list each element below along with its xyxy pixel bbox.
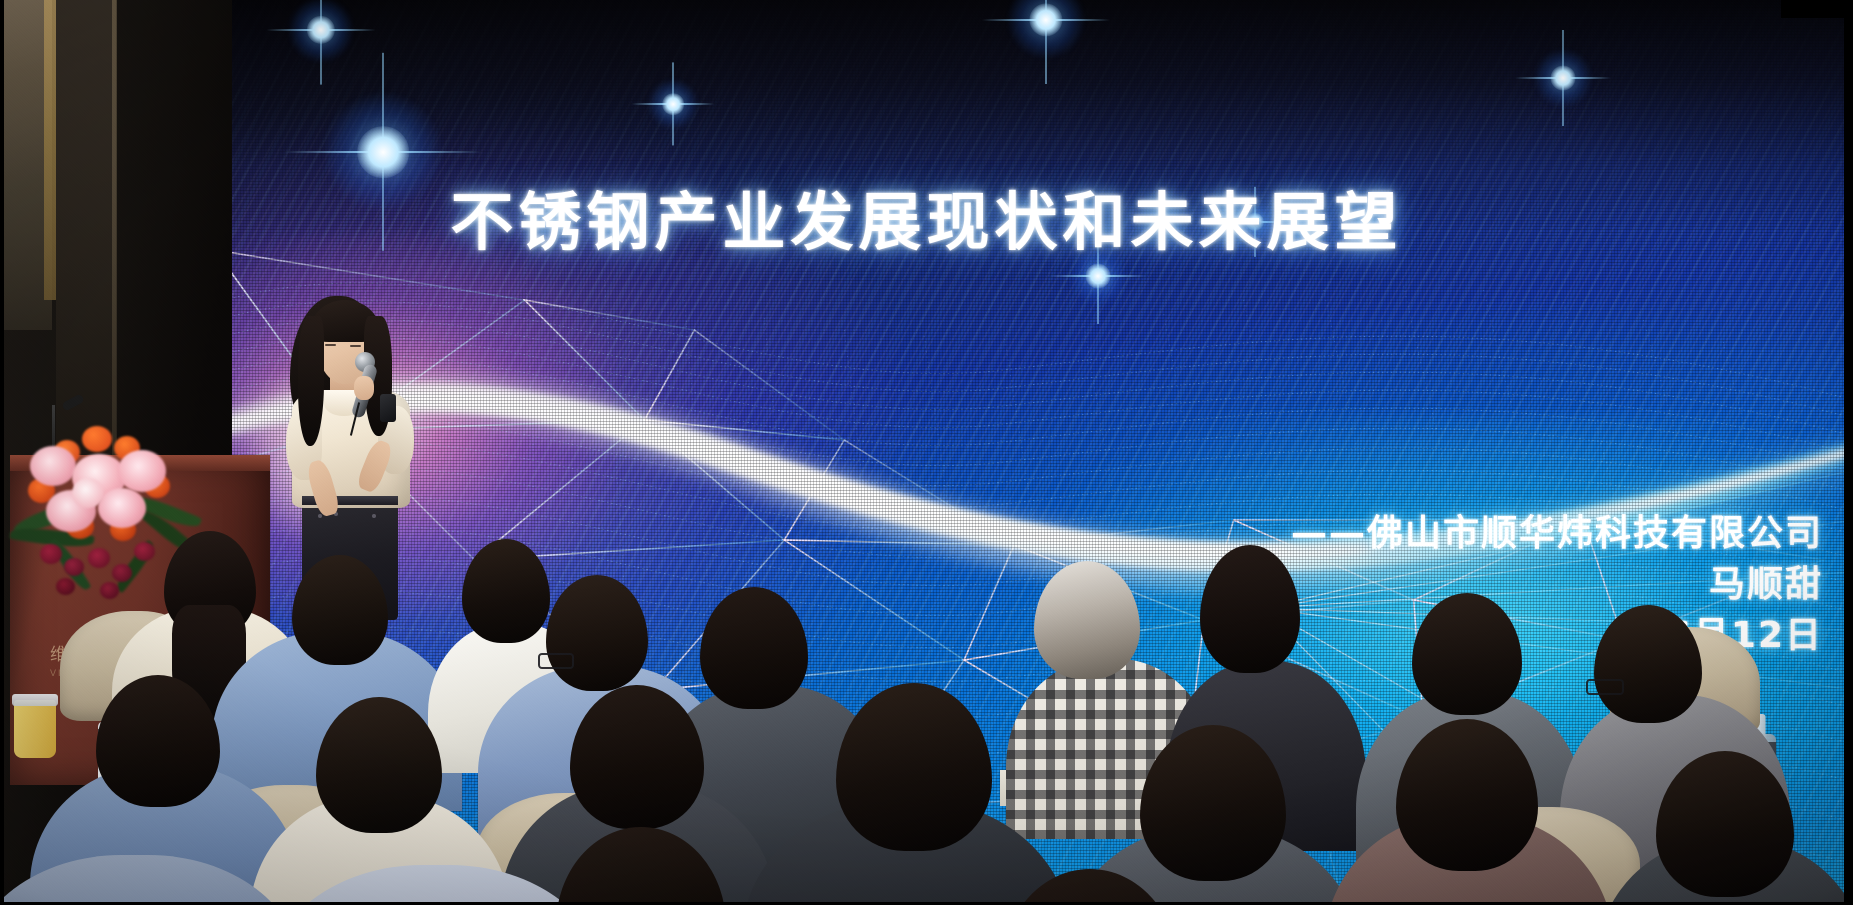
star-sparkle bbox=[1515, 30, 1611, 126]
star-sparkle bbox=[267, 0, 376, 84]
frame-bar-top-right bbox=[1781, 0, 1853, 18]
star-sparkle bbox=[982, 0, 1110, 84]
frame-bar-left bbox=[0, 0, 4, 905]
slide-title: 不锈钢产业发展现状和未来展望 bbox=[0, 172, 1853, 263]
screenshot-root: 不锈钢产业发展现状和未来展望 ——佛山市顺华炜科技有限公司 马顺甜 年6月12日… bbox=[0, 0, 1853, 905]
attendee-head bbox=[700, 587, 808, 709]
attendee-head bbox=[1594, 605, 1702, 723]
star-sparkle bbox=[631, 62, 714, 145]
attendee-head bbox=[836, 683, 992, 851]
attendee-head bbox=[462, 539, 550, 643]
attendee-eyeglasses bbox=[538, 653, 574, 669]
frame-bar-right bbox=[1844, 0, 1853, 905]
attendee-head bbox=[1412, 593, 1522, 715]
attendee-head bbox=[546, 575, 648, 691]
audience-rows bbox=[0, 435, 1853, 905]
attendee-head bbox=[292, 555, 388, 665]
attendee-eyeglasses bbox=[1586, 679, 1624, 695]
attendee-head-grey-hair bbox=[1034, 561, 1140, 679]
attendee-head bbox=[1200, 545, 1300, 673]
